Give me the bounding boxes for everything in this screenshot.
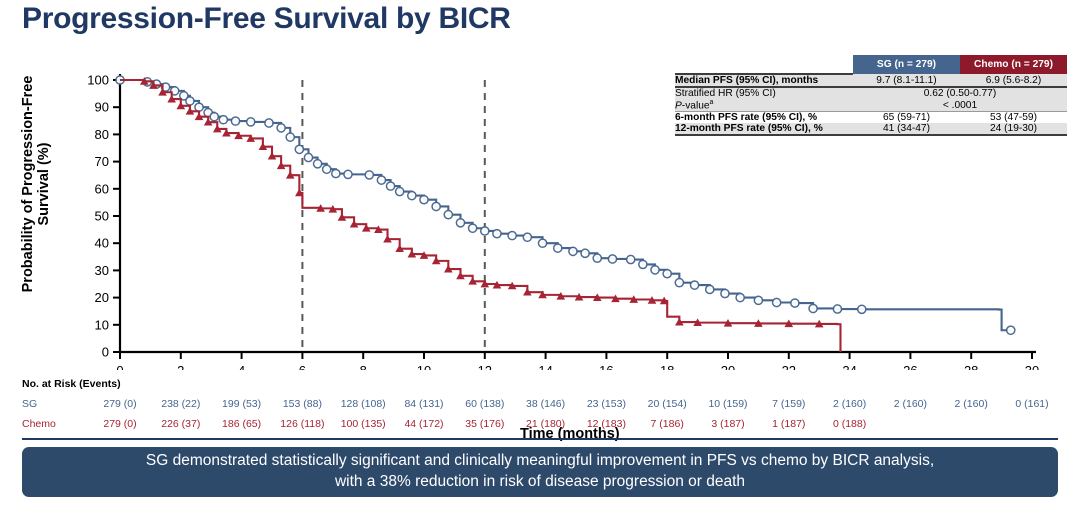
- censor-mark-circle: [675, 279, 683, 287]
- censor-mark-circle: [456, 219, 464, 227]
- summary-table-row: 6-month PFS rate (95% CI), %65 (59-71)53…: [675, 112, 1067, 124]
- x-axis-tick-label: 26: [903, 363, 917, 370]
- summary-table-row: 12-month PFS rate (95% CI), %41 (34-47)2…: [675, 123, 1067, 135]
- summary-table-row: P-valuea< .0001: [675, 99, 1067, 112]
- risk-cell-chemo: 0 (188): [815, 418, 885, 430]
- summary-table-header-row: SG (n = 279)Chemo (n = 279): [675, 55, 1067, 74]
- censor-mark-circle: [386, 182, 394, 190]
- banner-line-2: with a 38% reduction in risk of disease …: [335, 473, 745, 490]
- y-axis-tick-label: 90: [95, 100, 109, 115]
- censor-mark-circle: [265, 119, 273, 127]
- summary-row-label: 6-month PFS rate (95% CI), %: [675, 112, 853, 124]
- censor-mark-circle: [833, 305, 841, 313]
- page-title: Progression-Free Survival by BICR: [22, 2, 511, 36]
- censor-mark-circle: [508, 231, 516, 239]
- censor-mark-circle: [593, 254, 601, 262]
- risk-cell-chemo: 21 (180): [511, 418, 581, 430]
- summary-table-row: Stratified HR (95% CI)0.62 (0.50-0.77): [675, 87, 1067, 99]
- censor-mark-circle: [247, 118, 255, 126]
- censor-mark-circle: [365, 171, 373, 179]
- censor-mark-circle: [754, 296, 762, 304]
- censor-mark-circle: [523, 233, 531, 241]
- censor-mark-circle: [432, 202, 440, 210]
- risk-cell-sg: 238 (22): [146, 398, 216, 410]
- risk-table-heading: No. at Risk (Events): [22, 378, 121, 390]
- censor-mark-circle: [408, 192, 416, 200]
- censor-mark-circle: [481, 227, 489, 235]
- conclusion-banner: SG demonstrated statistically significan…: [22, 447, 1058, 497]
- censor-mark-circle: [396, 187, 404, 195]
- summary-row-label: Stratified HR (95% CI): [675, 87, 853, 99]
- censor-mark-circle: [858, 305, 866, 313]
- censor-mark-circle: [344, 170, 352, 178]
- summary-row-value-sg: 9.7 (8.1-11.1): [853, 74, 960, 87]
- y-axis-tick-label: 40: [95, 236, 109, 251]
- x-axis-tick-label: 4: [238, 363, 245, 370]
- risk-cell-sg: 153 (88): [267, 398, 337, 410]
- censor-mark-circle: [690, 281, 698, 289]
- summary-row-value-sg: 65 (59-71): [853, 112, 960, 124]
- censor-mark-circle: [195, 103, 203, 111]
- summary-statistics-table: SG (n = 279)Chemo (n = 279)Median PFS (9…: [675, 55, 1067, 136]
- y-axis-tick-label: 0: [102, 345, 109, 360]
- summary-row-value-chemo: 6.9 (5.6-8.2): [960, 74, 1067, 87]
- risk-cell-sg: 84 (131): [389, 398, 459, 410]
- summary-header-sg: SG (n = 279): [853, 55, 960, 74]
- censor-mark-circle: [1007, 326, 1015, 334]
- censor-mark-circle: [608, 255, 616, 263]
- x-axis-tick-label: 10: [417, 363, 431, 370]
- censor-mark-circle: [627, 255, 635, 263]
- summary-row-value-chemo: 24 (19-30): [960, 123, 1067, 135]
- risk-cell-chemo: 100 (135): [328, 418, 398, 430]
- y-axis-tick-label: 20: [95, 290, 109, 305]
- x-axis-tick-label: 22: [782, 363, 796, 370]
- y-axis-label: Probability of Progression-Free Survival…: [20, 54, 52, 314]
- risk-row-label-chemo: Chemo: [22, 418, 56, 430]
- y-axis-tick-label: 30: [95, 263, 109, 278]
- y-axis-tick-label: 100: [87, 73, 109, 88]
- risk-cell-chemo: 126 (118): [267, 418, 337, 430]
- risk-cell-chemo: 12 (183): [571, 418, 641, 430]
- risk-row-label-sg: SG: [22, 398, 37, 410]
- censor-mark-circle: [809, 304, 817, 312]
- censor-mark-circle: [581, 249, 589, 257]
- x-axis-tick-label: 0: [116, 363, 123, 370]
- x-axis-tick-label: 12: [478, 363, 492, 370]
- risk-cell-chemo: 226 (37): [146, 418, 216, 430]
- censor-mark-circle: [332, 169, 340, 177]
- risk-table-rule: [22, 438, 1058, 440]
- summary-table-row: Median PFS (95% CI), months9.7 (8.1-11.1…: [675, 74, 1067, 87]
- risk-cell-sg: 38 (146): [511, 398, 581, 410]
- x-axis-tick-label: 18: [660, 363, 674, 370]
- x-axis-tick-label: 8: [360, 363, 367, 370]
- censor-mark-circle: [639, 260, 647, 268]
- risk-cell-sg: 2 (160): [815, 398, 885, 410]
- y-axis-tick-label: 80: [95, 127, 109, 142]
- censor-mark-circle: [538, 239, 546, 247]
- censor-mark-circle: [493, 230, 501, 238]
- risk-cell-chemo: 7 (186): [632, 418, 702, 430]
- censor-mark-circle: [791, 299, 799, 307]
- censor-mark-circle: [663, 270, 671, 278]
- censor-mark-circle: [651, 266, 659, 274]
- banner-line-1: SG demonstrated statistically significan…: [146, 452, 934, 469]
- risk-cell-sg: 128 (108): [328, 398, 398, 410]
- censor-mark-circle: [323, 165, 331, 173]
- censor-mark-circle: [286, 133, 294, 141]
- x-axis-tick-label: 20: [721, 363, 735, 370]
- x-axis-tick-label: 16: [599, 363, 613, 370]
- censor-mark-circle: [186, 97, 194, 105]
- risk-cell-sg: 0 (161): [997, 398, 1067, 410]
- censor-mark-circle: [210, 113, 218, 121]
- censor-mark-circle: [219, 116, 227, 124]
- risk-cell-sg: 20 (154): [632, 398, 702, 410]
- risk-cell-sg: 10 (159): [693, 398, 763, 410]
- censor-mark-circle: [569, 247, 577, 255]
- summary-header-chemo: Chemo (n = 279): [960, 55, 1067, 74]
- censor-mark-circle: [444, 211, 452, 219]
- x-axis-tick-label: 24: [842, 363, 856, 370]
- summary-header-blank: [675, 55, 853, 74]
- summary-row-value-spanning: < .0001: [853, 99, 1067, 112]
- banner-text: SG demonstrated statistically significan…: [146, 451, 934, 492]
- censor-mark-circle: [721, 289, 729, 297]
- censor-mark-circle: [295, 145, 303, 153]
- censor-mark-circle: [736, 294, 744, 302]
- censor-mark-circle: [304, 153, 312, 161]
- censor-mark-circle: [377, 176, 385, 184]
- summary-row-value-spanning: 0.62 (0.50-0.77): [853, 87, 1067, 99]
- risk-cell-sg: 2 (160): [936, 398, 1006, 410]
- risk-cell-chemo: 35 (176): [450, 418, 520, 430]
- y-axis-tick-label: 60: [95, 181, 109, 196]
- censor-mark-circle: [314, 160, 322, 168]
- risk-cell-chemo: 279 (0): [85, 418, 155, 430]
- summary-row-value-chemo: 53 (47-59): [960, 112, 1067, 124]
- censor-mark-circle: [231, 117, 239, 125]
- y-axis-tick-label: 70: [95, 154, 109, 169]
- risk-cell-sg: 7 (159): [754, 398, 824, 410]
- x-axis-tick-label: 28: [964, 363, 978, 370]
- censor-mark-circle: [469, 224, 477, 232]
- risk-cell-chemo: 3 (187): [693, 418, 763, 430]
- censor-mark-circle: [554, 244, 562, 252]
- x-axis-tick-label: 30: [1025, 363, 1039, 370]
- risk-cell-sg: 279 (0): [85, 398, 155, 410]
- x-axis-tick-label: 2: [177, 363, 184, 370]
- risk-cell-sg: 60 (138): [450, 398, 520, 410]
- risk-cell-chemo: 1 (187): [754, 418, 824, 430]
- risk-cell-sg: 2 (160): [875, 398, 945, 410]
- censor-mark-circle: [277, 124, 285, 132]
- x-axis-tick-label: 6: [299, 363, 306, 370]
- summary-row-label: P-valuea: [675, 99, 853, 112]
- censor-mark-circle: [773, 298, 781, 306]
- summary-row-label: Median PFS (95% CI), months: [675, 74, 853, 87]
- summary-row-label: 12-month PFS rate (95% CI), %: [675, 123, 853, 135]
- risk-cell-chemo: 186 (65): [207, 418, 277, 430]
- risk-cell-sg: 199 (53): [207, 398, 277, 410]
- censor-mark-circle: [420, 196, 428, 204]
- y-axis-tick-label: 50: [95, 209, 109, 224]
- risk-cell-chemo: 44 (172): [389, 418, 459, 430]
- x-axis-tick-label: 14: [538, 363, 552, 370]
- censor-mark-circle: [706, 285, 714, 293]
- footnote-marker: a: [710, 99, 714, 106]
- summary-row-value-sg: 41 (34-47): [853, 123, 960, 135]
- y-axis-tick-label: 10: [95, 317, 109, 332]
- risk-cell-sg: 23 (153): [571, 398, 641, 410]
- numbers-at-risk-table: No. at Risk (Events) SG279 (0)238 (22)19…: [0, 378, 1080, 440]
- slide-root: Progression-Free Survival by BICR Probab…: [0, 0, 1080, 505]
